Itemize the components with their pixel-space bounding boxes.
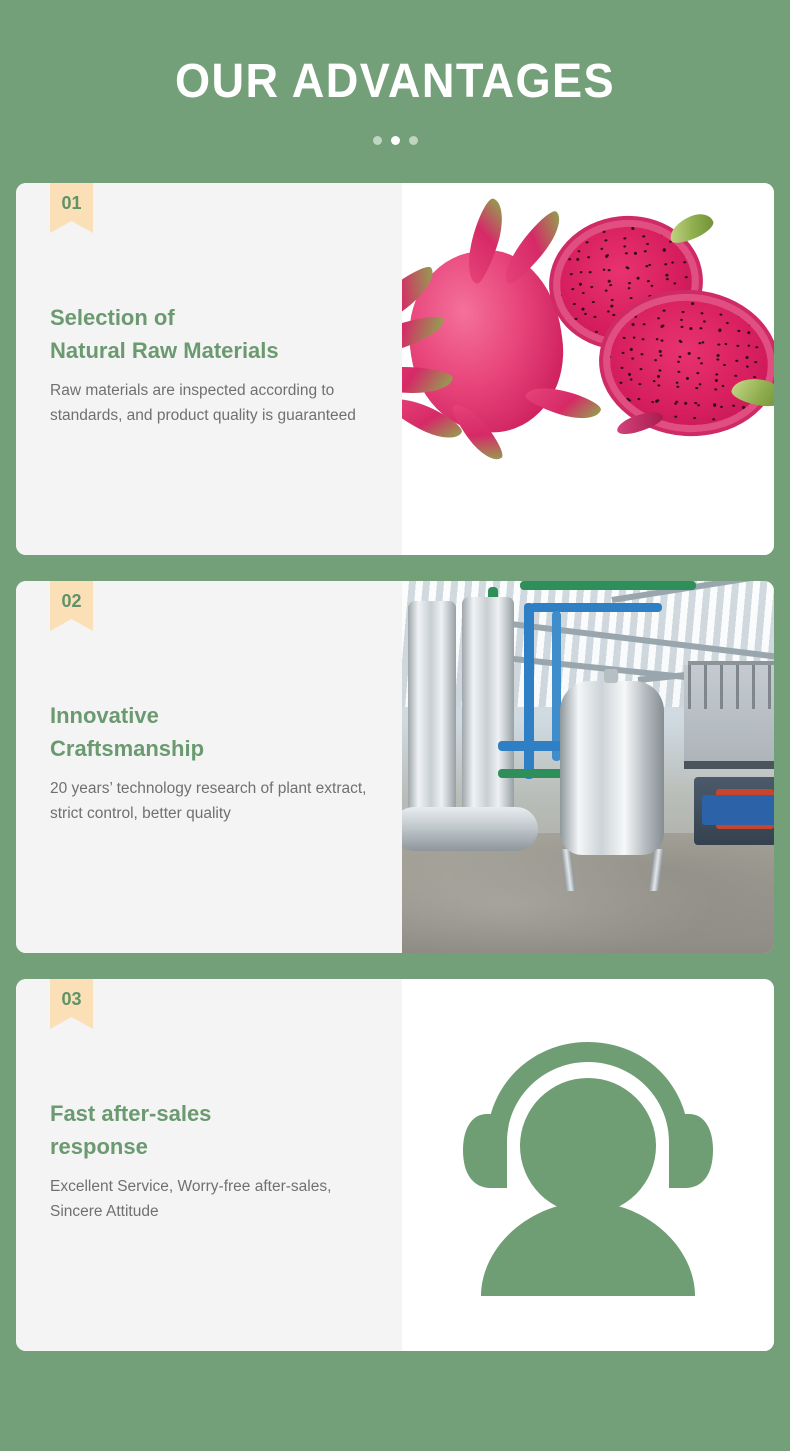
fruit-leaf (666, 209, 717, 247)
customer-support-headset-icon (463, 1034, 713, 1296)
fruit-stem (615, 409, 666, 438)
card-description: Excellent Service, Worry-free after-sale… (50, 1164, 368, 1224)
dragon-fruit-image (402, 183, 774, 555)
card-title: Innovative Craftsmanship (50, 581, 368, 766)
fruit-scale (495, 207, 569, 288)
carousel-dot-1[interactable] (373, 136, 382, 145)
horizontal-tank (402, 807, 538, 851)
card-text-panel: 02 Innovative Craftsmanship 20 years’ te… (16, 581, 402, 953)
card-description: Raw materials are inspected according to… (50, 368, 368, 428)
carousel-dots[interactable] (0, 136, 790, 145)
card-text-panel: 03 Fast after-sales response Excellent S… (16, 979, 402, 1351)
support-icon-wrapper (402, 979, 774, 1351)
dragon-fruit-whole (402, 241, 574, 442)
advantage-card-list: 01 Selection of Natural Raw Materials Ra… (0, 183, 790, 1351)
factory-railing (688, 661, 774, 709)
card-title: Fast after-sales response (50, 979, 368, 1164)
carousel-dot-3[interactable] (409, 136, 418, 145)
page-title: OUR ADVANTAGES (24, 58, 767, 106)
carousel-dot-2[interactable] (391, 136, 400, 145)
card-text-panel: 01 Selection of Natural Raw Materials Ra… (16, 183, 402, 555)
factory-equipment-image (402, 581, 774, 953)
advantage-card-01[interactable]: 01 Selection of Natural Raw Materials Ra… (16, 183, 774, 555)
card-description: 20 years’ technology research of plant e… (50, 766, 368, 826)
advantage-card-03[interactable]: 03 Fast after-sales response Excellent S… (16, 979, 774, 1351)
stainless-steel-tank (560, 681, 664, 855)
fruit-scale (459, 196, 510, 286)
blue-pipe (530, 603, 662, 612)
card-media-factory (402, 581, 774, 953)
page-header: OUR ADVANTAGES (0, 0, 790, 145)
fruit-scale (402, 363, 453, 396)
advantage-card-02[interactable]: 02 Innovative Craftsmanship 20 years’ te… (16, 581, 774, 953)
card-title: Selection of Natural Raw Materials (50, 183, 368, 368)
fruit-scale (402, 312, 448, 364)
card-media-support (402, 979, 774, 1351)
advantages-page: OUR ADVANTAGES 01 Selection of Natural R… (0, 0, 790, 1451)
factory-machine-blue (702, 795, 774, 825)
green-pipe (520, 581, 696, 590)
fruit-scale (523, 380, 603, 426)
blue-pipe (524, 603, 534, 779)
card-media-dragon-fruit (402, 183, 774, 555)
